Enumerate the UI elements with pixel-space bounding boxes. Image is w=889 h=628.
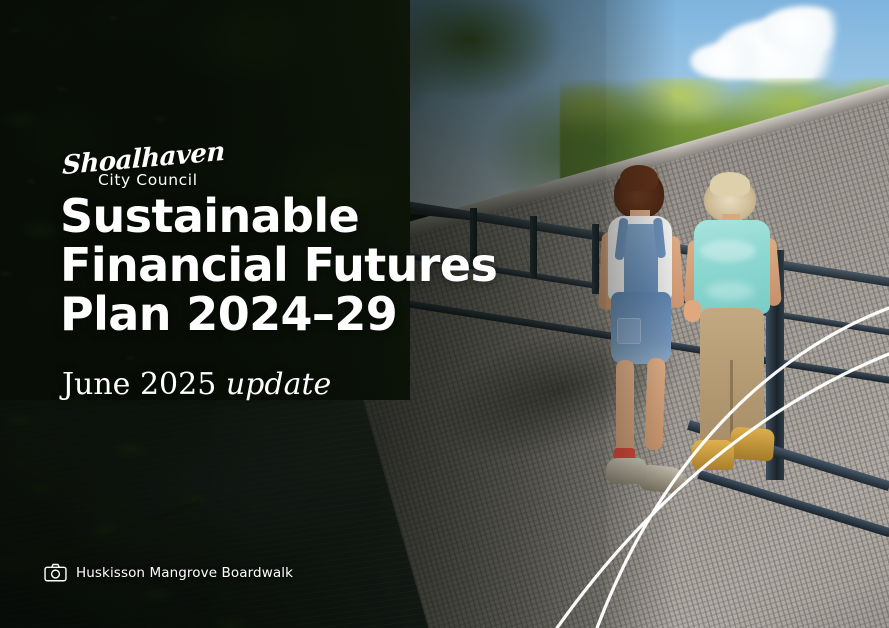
dark-overlay-falloff <box>606 0 676 628</box>
subtitle-emphasis: update <box>226 367 331 402</box>
hand <box>684 300 701 322</box>
report-cover-page: Shoalhaven City Council Sustainable Fina… <box>0 0 889 628</box>
fabric-highlight <box>700 240 756 262</box>
camera-icon <box>44 563 67 582</box>
caption-text: Huskisson Mangrove Boardwalk <box>76 565 293 581</box>
boot-left <box>692 440 734 470</box>
title-line-1: Sustainable <box>60 192 497 241</box>
subtitle-date: June 2025 <box>62 367 216 402</box>
photo-caption: Huskisson Mangrove Boardwalk <box>44 563 293 582</box>
boot-right <box>729 427 775 462</box>
page-title: Sustainable Financial Futures Plan 2024–… <box>60 192 497 340</box>
title-line-3: Plan 2024–29 <box>60 290 497 339</box>
hair-top <box>710 172 750 196</box>
fabric-highlight <box>706 282 754 300</box>
council-logo: Shoalhaven City Council <box>62 146 225 189</box>
title-line-2: Financial Futures <box>60 241 497 290</box>
subtitle: June 2025 update <box>62 367 331 402</box>
